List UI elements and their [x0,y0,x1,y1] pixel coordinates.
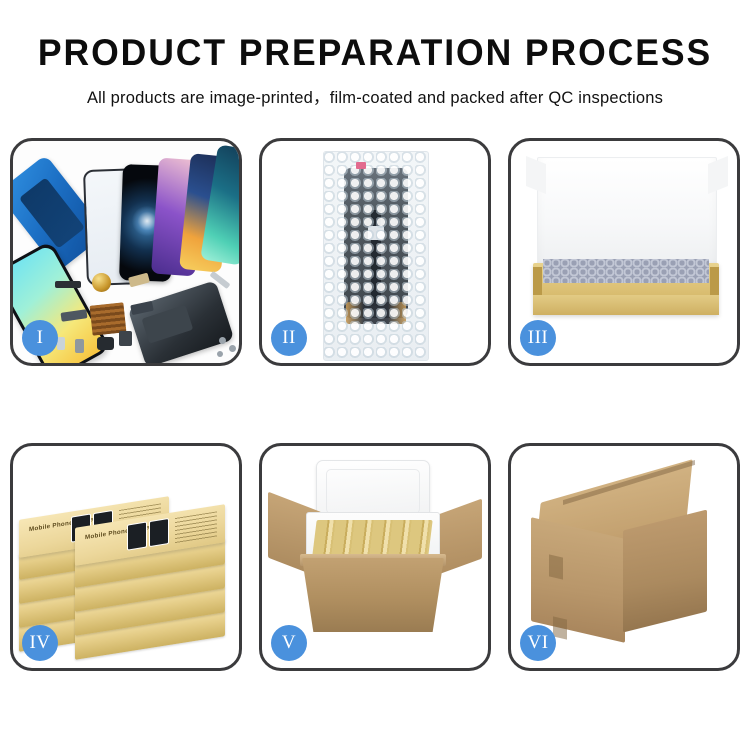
carton-tape-mark [553,616,567,639]
box-phone-image [127,521,147,550]
step-badge-4: IV [22,625,58,661]
step-badge-5: V [271,625,307,661]
box-phone-image [149,518,169,547]
process-step-3[interactable]: III [508,138,740,366]
poster-header: PRODUCT PREPARATION PROCESS All products… [0,0,750,108]
tray-front-face [533,295,719,315]
process-step-4[interactable]: Mobile Phone Spare Parts Mobile Phone Sp… [10,443,242,671]
carton-side-face [623,510,707,633]
process-step-6[interactable]: VI [508,443,740,671]
process-step-1[interactable]: I [10,138,242,366]
pink-seal-tab [356,162,366,169]
spare-part [57,337,65,350]
carton-body [302,558,444,632]
spare-part [75,339,84,353]
spare-part [97,337,114,350]
page-title: PRODUCT PREPARATION PROCESS [15,34,735,71]
screw-part [229,345,236,352]
process-step-5[interactable]: V [259,443,491,671]
step-badge-3: III [520,320,556,356]
process-step-2[interactable]: II [259,138,491,366]
kraft-box-tray [533,263,719,315]
bubble-wrap-fill [543,259,709,283]
step-badge-2: II [271,320,307,356]
page-subtitle: All products are image-printed，film-coat… [0,84,750,108]
bubble-texture [324,152,428,360]
process-step-grid: I II [10,138,740,738]
spare-part [119,331,132,346]
screw-part [217,351,223,357]
poster-root: PRODUCT PREPARATION PROCESS All products… [0,0,750,750]
screw-part [219,337,226,344]
carton-tape-mark [549,554,563,579]
gold-coil-part [92,273,111,292]
spare-part [55,281,81,288]
box-spec-lines [175,511,217,544]
step-badge-6: VI [520,625,556,661]
bubble-bag [323,151,429,361]
step-badge-1: I [22,320,58,356]
carton-front-face [531,517,625,643]
